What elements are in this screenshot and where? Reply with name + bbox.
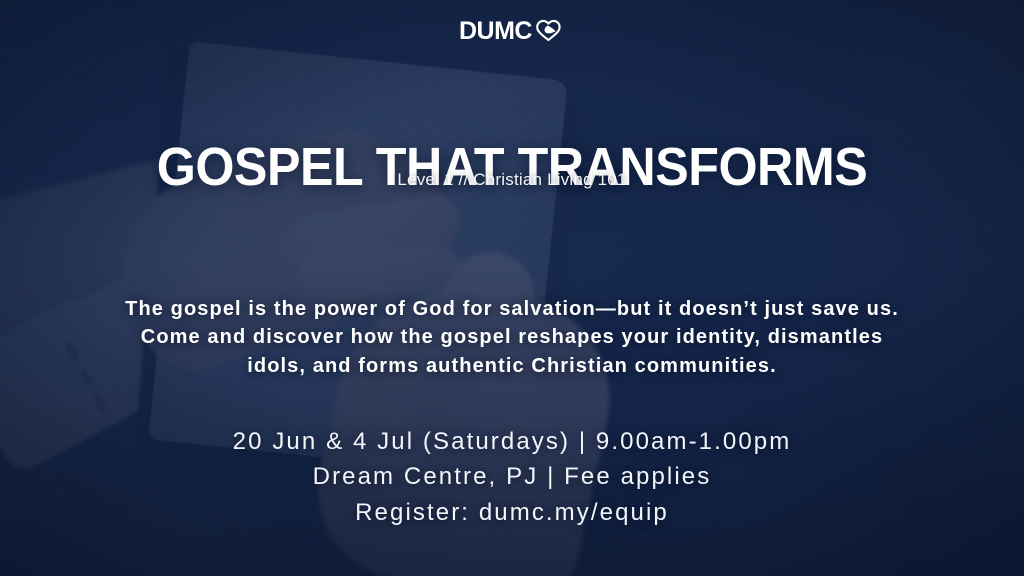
event-details: 20 Jun & 4 Jul (Saturdays) | 9.00am-1.00… bbox=[0, 424, 1024, 530]
dumc-logo: DUMC bbox=[0, 14, 1024, 48]
detail-venue: Dream Centre, PJ | Fee applies bbox=[0, 459, 1024, 494]
detail-schedule: 20 Jun & 4 Jul (Saturdays) | 9.00am-1.00… bbox=[0, 424, 1024, 459]
course-subtitle: Level 1 // Christian Living 101 bbox=[0, 170, 1024, 190]
detail-register[interactable]: Register: dumc.my/equip bbox=[0, 495, 1024, 530]
poster-content: DUMC GOSPEL THAT TRANSFORMS Level 1 // C… bbox=[0, 0, 1024, 576]
heart-dove-icon bbox=[535, 18, 565, 44]
logo-wordmark: DUMC bbox=[459, 19, 532, 44]
poster-canvas: HOLY BIBLE DUMC GOSPEL THAT TRANSFORMS L… bbox=[0, 0, 1024, 576]
course-description: The gospel is the power of God for salva… bbox=[112, 295, 912, 380]
